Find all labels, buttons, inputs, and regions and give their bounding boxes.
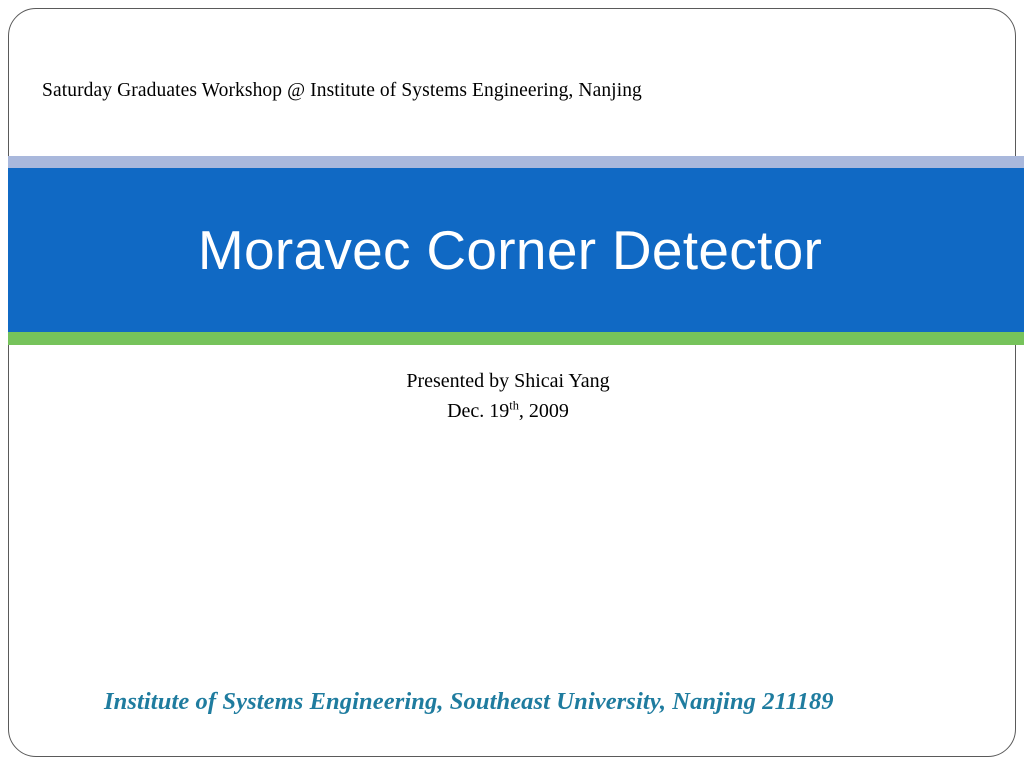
date-ordinal-suffix: th <box>509 398 519 412</box>
banner-top-accent-strip <box>8 156 1024 168</box>
presenter-line: Presented by Shicai Yang <box>0 366 1016 396</box>
date-prefix: Dec. 19 <box>447 400 509 422</box>
banner-bottom-accent-strip <box>8 332 1024 345</box>
presentation-slide: Saturday Graduates Workshop @ Institute … <box>0 0 1024 768</box>
workshop-header-text: Saturday Graduates Workshop @ Institute … <box>42 79 642 103</box>
subtitle-block: Presented by Shicai Yang Dec. 19th, 2009 <box>0 366 1016 426</box>
date-line: Dec. 19th, 2009 <box>0 396 1016 426</box>
banner-main-band: Moravec Corner Detector <box>8 168 1024 332</box>
date-year: , 2009 <box>519 400 569 422</box>
institution-footer: Institute of Systems Engineering, Southe… <box>104 688 834 716</box>
title-banner: Moravec Corner Detector <box>8 156 1024 345</box>
slide-title: Moravec Corner Detector <box>8 168 1024 332</box>
